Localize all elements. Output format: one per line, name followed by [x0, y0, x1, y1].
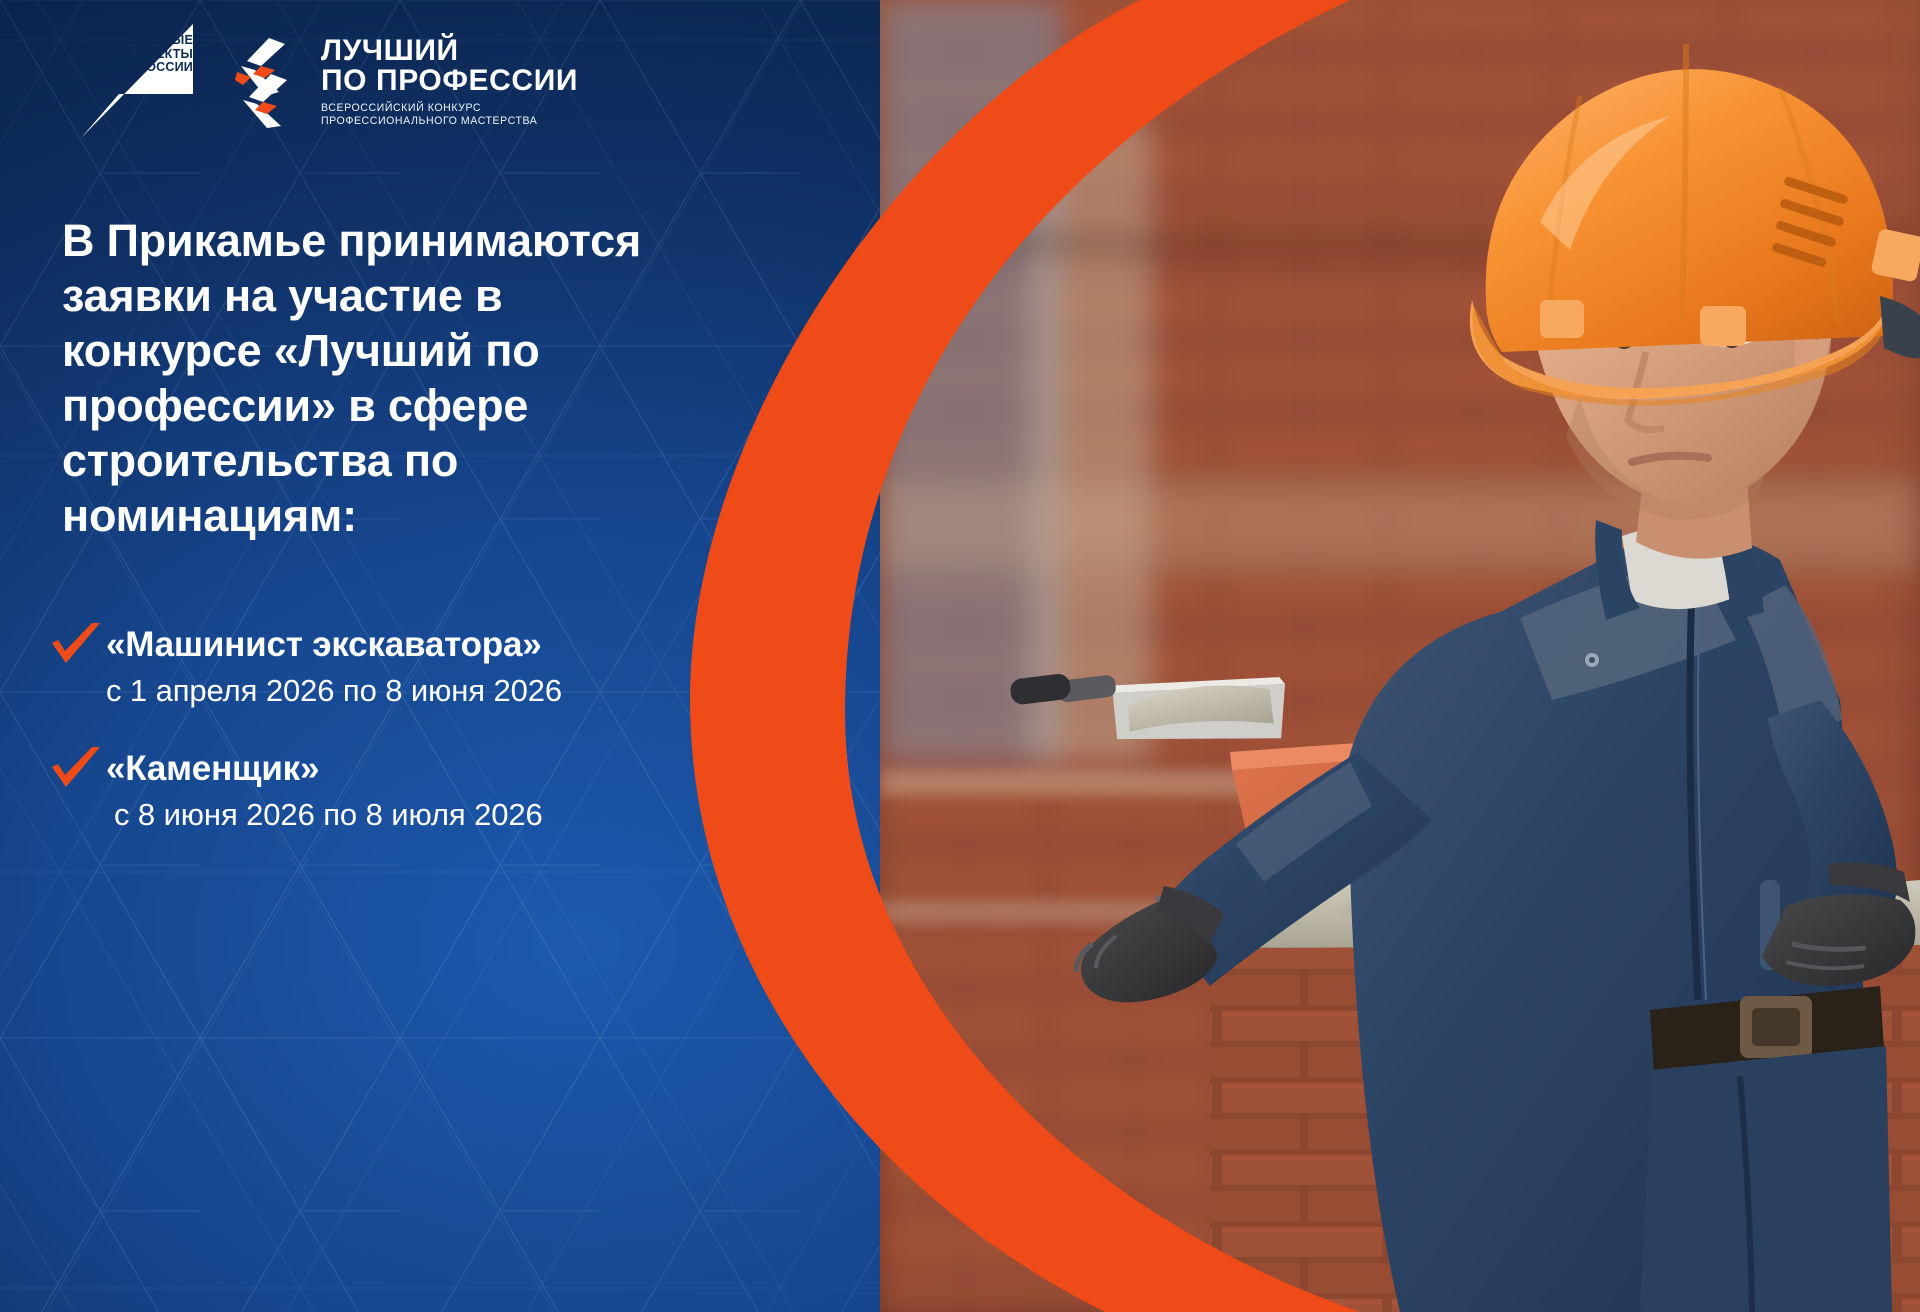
orange-checkmark-icon [48, 623, 104, 671]
nomination-title: «Каменщик» [106, 749, 808, 789]
np-line-1: НАЦИОНАЛЬНЫЕ [79, 34, 193, 48]
best-in-profession-wordmark: ЛУЧШИЙ ПО ПРОФЕССИИ ВСЕРОССИЙСКИЙ КОНКУР… [321, 36, 578, 128]
nomination-dates: с 8 июня 2026 по 8 июля 2026 [106, 797, 808, 833]
headline-line-5: строительства по [62, 433, 762, 488]
national-projects-wordmark: НАЦИОНАЛЬНЫЕ ПРОЕКТЫ РОССИИ [79, 34, 193, 75]
chevron-arrows-mark-icon [235, 36, 307, 128]
poster-canvas: НАЦИОНАЛЬНЫЕ ПРОЕКТЫ РОССИИ [0, 0, 1920, 1312]
logo-bar: НАЦИОНАЛЬНЫЕ ПРОЕКТЫ РОССИИ [75, 22, 578, 140]
list-item: «Машинист экскаватора» с 1 апреля 2026 п… [48, 625, 808, 709]
headline-line-6: номинациям: [62, 488, 762, 543]
lp-sub-line-1: ВСЕРОССИЙСКИЙ КОНКУРС [321, 102, 578, 115]
lp-title-line-2: ПО ПРОФЕССИИ [321, 66, 578, 96]
headline-line-3: конкурсе «Лучший по [62, 323, 762, 378]
nomination-title: «Машинист экскаватора» [106, 625, 808, 665]
photo-region [880, 0, 1920, 1312]
national-projects-logo: НАЦИОНАЛЬНЫЕ ПРОЕКТЫ РОССИИ [75, 22, 195, 140]
headline-line-4: профессии» в сфере [62, 378, 762, 433]
np-line-3: РОССИИ [79, 61, 193, 75]
lp-title-line-1: ЛУЧШИЙ [321, 36, 578, 66]
lp-subtitle: ВСЕРОССИЙСКИЙ КОНКУРС ПРОФЕССИОНАЛЬНОГО … [321, 102, 578, 128]
orange-checkmark-icon [48, 747, 104, 795]
np-line-2: ПРОЕКТЫ [79, 48, 193, 62]
headline-line-1: В Прикамье принимаются [62, 213, 762, 268]
nominations-list: «Машинист экскаватора» с 1 апреля 2026 п… [48, 625, 808, 833]
headline-line-2: заявки на участие в [62, 268, 762, 323]
bricklayer-worker-photo [880, 0, 1920, 1312]
page-title: В Прикамье принимаются заявки на участие… [62, 213, 762, 543]
list-item: «Каменщик» с 8 июня 2026 по 8 июля 2026 [48, 749, 808, 833]
nomination-dates: с 1 апреля 2026 по 8 июня 2026 [106, 673, 808, 709]
lp-sub-line-2: ПРОФЕССИОНАЛЬНОГО МАСТЕРСТВА [321, 115, 578, 128]
best-in-profession-logo: ЛУЧШИЙ ПО ПРОФЕССИИ ВСЕРОССИЙСКИЙ КОНКУР… [235, 36, 578, 128]
